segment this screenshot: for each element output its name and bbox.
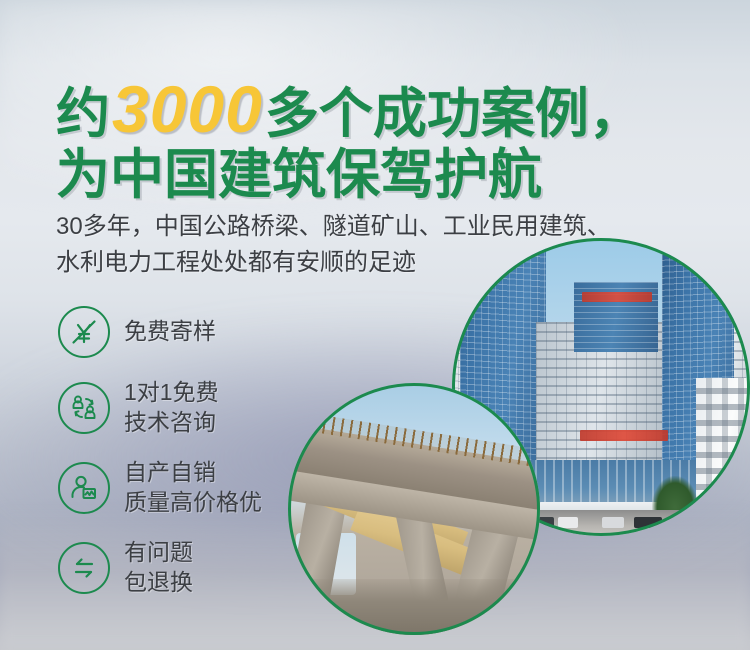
headline-line-1: 约3000多个成功案例， <box>56 76 643 142</box>
feature-label-line-2: 包退换 <box>124 568 193 598</box>
bridge-photo <box>288 383 540 635</box>
feature-label-line-1: 1对1免费 <box>124 378 219 408</box>
feature-list: 免费寄样 1对1免费 技术咨询 <box>58 296 308 608</box>
feature-label-line-2: 技术咨询 <box>124 408 219 438</box>
parked-car <box>668 517 688 528</box>
subtitle-line-1: 30多年，中国公路桥梁、隧道矿山、工业民用建筑、 <box>56 209 611 245</box>
building-adjacent-white <box>696 378 750 528</box>
feature-label-line-1: 自产自销 <box>124 458 262 488</box>
feature-label: 免费寄样 <box>124 317 216 347</box>
one-on-one-consult-icon <box>58 382 110 434</box>
parked-car <box>634 517 662 528</box>
feature-label: 1对1免费 技术咨询 <box>124 378 219 438</box>
subtitle: 30多年，中国公路桥梁、隧道矿山、工业民用建筑、 水利电力工程处处都有安顺的足迹 <box>56 209 611 282</box>
feature-label: 有问题 包退换 <box>124 538 193 598</box>
subtitle-line-2: 水利电力工程处处都有安顺的足迹 <box>56 245 611 281</box>
feature-label-line-1: 免费寄样 <box>124 318 216 344</box>
self-production-quality-icon <box>58 462 110 514</box>
feature-label: 自产自销 质量高价格优 <box>124 458 262 518</box>
bridge-photo-image <box>288 383 540 635</box>
building-roof-sign <box>582 292 652 302</box>
parked-car <box>558 517 578 528</box>
free-sample-icon <box>58 306 110 358</box>
headline-number: 3000 <box>110 72 265 146</box>
return-exchange-icon <box>58 542 110 594</box>
bridge-ground-rubble <box>288 579 540 635</box>
feature-label-line-2: 质量高价格优 <box>124 488 262 518</box>
feature-item-free-sample[interactable]: 免费寄样 <box>58 296 308 368</box>
headline: 约3000多个成功案例， 为中国建筑保驾护航 <box>56 76 643 202</box>
feature-item-one-on-one-consult[interactable]: 1对1免费 技术咨询 <box>58 368 308 448</box>
parked-car <box>602 517 624 528</box>
building-entrance-sign <box>580 430 668 441</box>
headline-line-2: 为中国建筑保驾护航 <box>56 148 643 202</box>
promo-banner: 约3000多个成功案例， 为中国建筑保驾护航 30多年，中国公路桥梁、隧道矿山、… <box>0 0 750 650</box>
feature-item-return-exchange[interactable]: 有问题 包退换 <box>58 528 308 608</box>
feature-item-self-production[interactable]: 自产自销 质量高价格优 <box>58 448 308 528</box>
headline-suffix: 多个成功案例， <box>265 84 643 144</box>
feature-label-line-1: 有问题 <box>124 538 193 568</box>
headline-prefix: 约 <box>56 84 110 144</box>
